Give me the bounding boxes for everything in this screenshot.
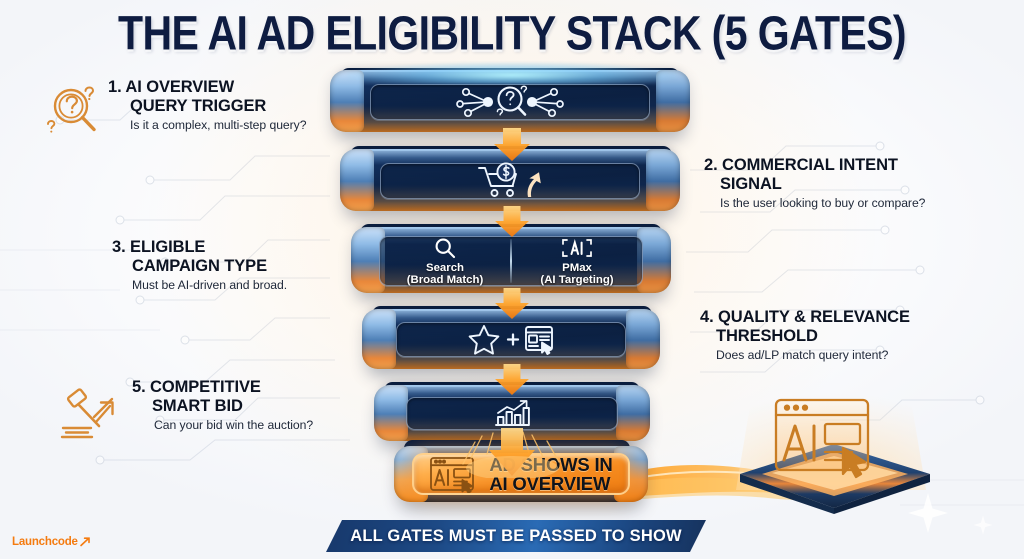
page-title: THE AI AD ELIGIBILITY STACK (5 GATES) bbox=[0, 6, 1024, 61]
slab-right-cap bbox=[616, 385, 650, 441]
brand-logo[interactable]: Launchcode bbox=[12, 536, 91, 548]
brand-logo-text: Launchcode bbox=[12, 536, 78, 548]
campaign-type-pmax[interactable]: PMax (AI Targeting) bbox=[512, 236, 642, 288]
stack-top-glow bbox=[347, 62, 677, 84]
callout-4-subtitle: Does ad/LP match query intent? bbox=[700, 348, 910, 362]
slab-inner-plate bbox=[370, 84, 650, 120]
callout-4-heading-line2: THRESHOLD bbox=[700, 327, 910, 346]
callout-2-subtitle: Is the user looking to buy or compare? bbox=[704, 196, 925, 210]
callout-5-heading-line1: 5. COMPETITIVE bbox=[132, 378, 261, 396]
callout-gate-3[interactable]: 3. ELIGIBLE CAMPAIGN TYPE Must be AI-dri… bbox=[112, 238, 287, 292]
callout-4-text: 4. QUALITY & RELEVANCE THRESHOLD Does ad… bbox=[700, 308, 910, 362]
campaign-type-pmax-label: PMax bbox=[562, 262, 592, 275]
magnifier-question-icon bbox=[44, 82, 104, 140]
callout-3-heading-line1: 3. ELIGIBLE bbox=[112, 238, 205, 256]
flow-arrow-down-icon bbox=[489, 206, 535, 238]
ai-overview-hologram-icon[interactable] bbox=[718, 382, 950, 514]
callout-2-heading: 2. COMMERCIAL INTENT SIGNAL bbox=[704, 156, 925, 193]
callout-3-text: 3. ELIGIBLE CAMPAIGN TYPE Must be AI-dri… bbox=[112, 238, 287, 292]
campaign-type-search-sublabel: (Broad Match) bbox=[407, 274, 484, 287]
callout-5-subtitle: Can your bid win the auction? bbox=[132, 418, 313, 432]
callout-5-heading-line2: SMART BID bbox=[132, 397, 313, 416]
bar-chart-growth-icon bbox=[492, 399, 532, 429]
arrow-up-right-icon bbox=[79, 536, 91, 548]
spark-burst-icon bbox=[427, 428, 597, 478]
magnifier-icon bbox=[433, 236, 457, 260]
callout-3-heading-line2: CAMPAIGN TYPE bbox=[112, 257, 287, 276]
campaign-type-search[interactable]: Search (Broad Match) bbox=[380, 236, 510, 288]
ai-bracket-icon bbox=[559, 236, 595, 260]
callout-3-subtitle: Must be AI-driven and broad. bbox=[112, 278, 287, 292]
callout-1-heading-line1: 1. AI OVERVIEW bbox=[108, 78, 234, 96]
callout-5-heading: 5. COMPETITIVE SMART BID bbox=[132, 378, 313, 415]
slab-right-cap bbox=[626, 309, 660, 369]
callout-2-text: 2. COMMERCIAL INTENT SIGNAL Is the user … bbox=[704, 156, 925, 210]
callout-4-heading-line1: 4. QUALITY & RELEVANCE bbox=[700, 308, 910, 326]
callout-1-text: 1. AI OVERVIEW QUERY TRIGGER Is it a com… bbox=[108, 78, 306, 132]
star-plus-landingpage-icon bbox=[468, 323, 554, 357]
footer-ribbon: ALL GATES MUST BE PASSED TO SHOW bbox=[326, 520, 706, 552]
callout-1-subtitle: Is it a complex, multi-step query? bbox=[108, 118, 306, 132]
slab-left-cap bbox=[362, 309, 396, 369]
callout-4-heading: 4. QUALITY & RELEVANCE THRESHOLD bbox=[700, 308, 910, 345]
flow-arrow-down-icon bbox=[489, 128, 535, 162]
callout-gate-5[interactable]: 5. COMPETITIVE SMART BID Can your bid wi… bbox=[60, 378, 313, 442]
page-title-container: THE AI AD ELIGIBILITY STACK (5 GATES) bbox=[0, 6, 1024, 53]
slab-left-cap bbox=[374, 385, 408, 441]
slab-inner-plate bbox=[396, 322, 626, 357]
callout-2-heading-line1: 2. COMMERCIAL INTENT bbox=[704, 156, 898, 174]
campaign-type-search-label: Search bbox=[426, 262, 464, 275]
slab-left-cap bbox=[340, 149, 374, 211]
footer-ribbon-text: ALL GATES MUST BE PASSED TO SHOW bbox=[350, 527, 682, 546]
callout-3-heading: 3. ELIGIBLE CAMPAIGN TYPE bbox=[112, 238, 287, 275]
slab-inner-plate bbox=[406, 397, 618, 430]
flow-arrow-down-icon bbox=[489, 288, 535, 320]
callout-gate-1[interactable]: 1. AI OVERVIEW QUERY TRIGGER Is it a com… bbox=[44, 78, 306, 140]
callout-gate-2[interactable]: 2. COMMERCIAL INTENT SIGNAL Is the user … bbox=[704, 156, 925, 210]
callout-5-text: 5. COMPETITIVE SMART BID Can your bid wi… bbox=[132, 378, 313, 432]
campaign-type-columns: Search (Broad Match) PMax (AI Targeting) bbox=[380, 236, 642, 288]
slab-inner-plate bbox=[380, 163, 640, 199]
shopping-cart-dollar-uparrow-icon bbox=[476, 162, 544, 200]
campaign-type-pmax-sublabel: (AI Targeting) bbox=[540, 274, 613, 287]
callout-2-heading-line2: SIGNAL bbox=[704, 175, 925, 194]
slab-right-cap bbox=[646, 149, 680, 211]
flow-arrow-down-icon bbox=[489, 364, 535, 396]
slab-inner-plate: Search (Broad Match) PMax (AI Targeting) bbox=[379, 236, 643, 286]
callout-1-heading-line2: QUERY TRIGGER bbox=[108, 97, 306, 116]
gavel-growth-arrow-icon bbox=[60, 386, 122, 442]
callout-1-heading: 1. AI OVERVIEW QUERY TRIGGER bbox=[108, 78, 306, 115]
callout-gate-4[interactable]: 4. QUALITY & RELEVANCE THRESHOLD Does ad… bbox=[700, 308, 910, 362]
query-network-magnifier-icon bbox=[446, 82, 574, 122]
